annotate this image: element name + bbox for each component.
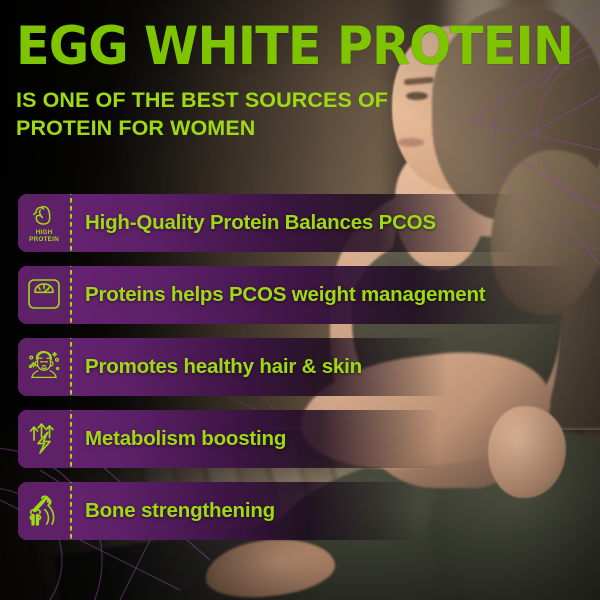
benefit-row: Bone strengthening bbox=[18, 482, 588, 540]
weighing-scale-icon bbox=[26, 277, 62, 311]
benefit-row: Promotes healthy hair & skin bbox=[18, 338, 588, 396]
flexed-bicep-icon bbox=[31, 203, 57, 227]
subtitle-line-2: PROTEIN FOR WOMEN bbox=[16, 114, 436, 143]
benefit-icon-badge: HIGH PROTEIN bbox=[18, 194, 70, 252]
benefit-text: Promotes healthy hair & skin bbox=[72, 338, 362, 396]
knee-bone-joint-icon bbox=[24, 491, 64, 529]
benefit-text: High-Quality Protein Balances PCOS bbox=[72, 194, 436, 252]
page-subtitle: IS ONE OF THE BEST SOURCES OF PROTEIN FO… bbox=[16, 86, 436, 143]
infographic-poster: EGG WHITE PROTEIN IS ONE OF THE BEST SOU… bbox=[0, 0, 600, 600]
page-title: EGG WHITE PROTEIN bbox=[16, 22, 407, 73]
badge-label-line-2: PROTEIN bbox=[29, 236, 59, 243]
benefit-row: Proteins helps PCOS weight management bbox=[18, 266, 588, 324]
subtitle-line-1: IS ONE OF THE BEST SOURCES OF bbox=[16, 86, 436, 115]
lightning-bolt-up-arrows-icon bbox=[27, 420, 61, 456]
benefit-text: Metabolism boosting bbox=[72, 410, 286, 468]
benefit-icon-badge bbox=[18, 410, 70, 468]
headline-block: EGG WHITE PROTEIN IS ONE OF THE BEST SOU… bbox=[16, 22, 436, 143]
woman-face-skincare-icon bbox=[24, 347, 64, 385]
benefit-text: Proteins helps PCOS weight management bbox=[72, 266, 485, 324]
benefit-text: Bone strengthening bbox=[72, 482, 275, 540]
badge-label-line-1: HIGH bbox=[36, 229, 53, 236]
benefit-icon-badge bbox=[18, 338, 70, 396]
benefit-icon-badge bbox=[18, 266, 70, 324]
benefit-row: HIGH PROTEIN High-Quality Protein Balanc… bbox=[18, 194, 588, 252]
benefits-list: HIGH PROTEIN High-Quality Protein Balanc… bbox=[18, 194, 588, 554]
badge-label: HIGH PROTEIN bbox=[29, 229, 59, 243]
benefit-row: Metabolism boosting bbox=[18, 410, 588, 468]
benefit-icon-badge bbox=[18, 482, 70, 540]
